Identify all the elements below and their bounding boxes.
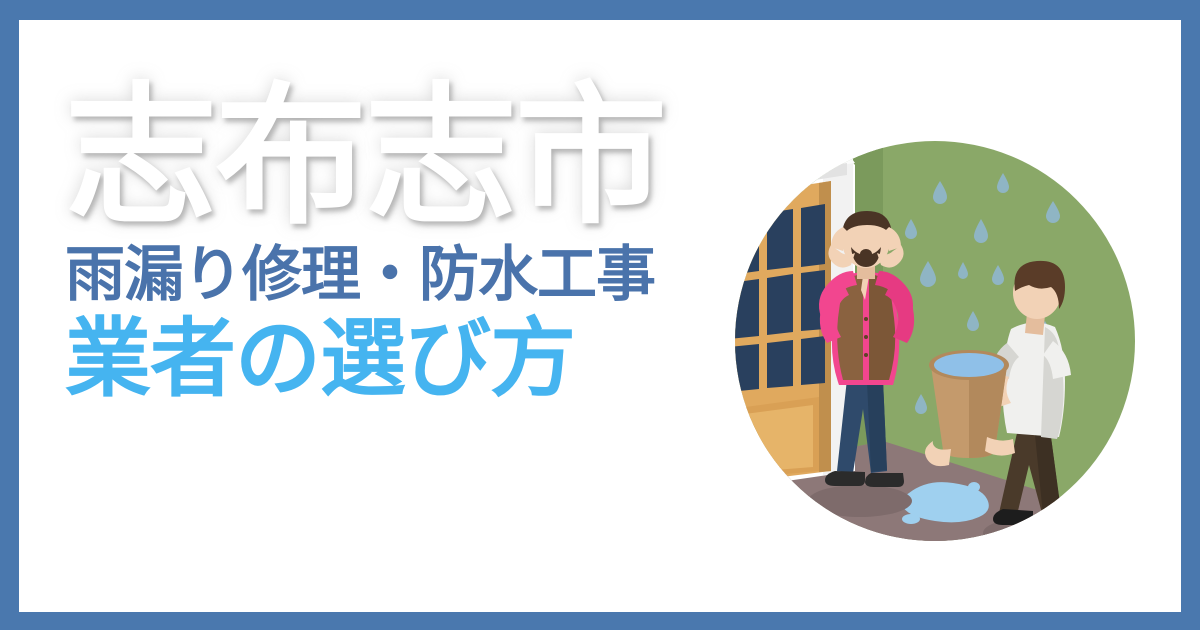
resident-shadow [808,485,912,517]
banner-root: 志布志市 雨漏り修理・防水工事 業者の選び方 [0,0,1200,630]
inner-card: 志布志市 雨漏り修理・防水工事 業者の選び方 [19,20,1181,612]
howto-heading: 業者の選び方 [65,312,825,407]
city-name-title: 志布志市 [65,80,825,235]
service-subtitle: 雨漏り修理・防水工事 [65,241,825,308]
headline-block: 志布志市 雨漏り修理・防水工事 業者の選び方 [65,80,825,407]
door-panel-inset [737,405,813,473]
